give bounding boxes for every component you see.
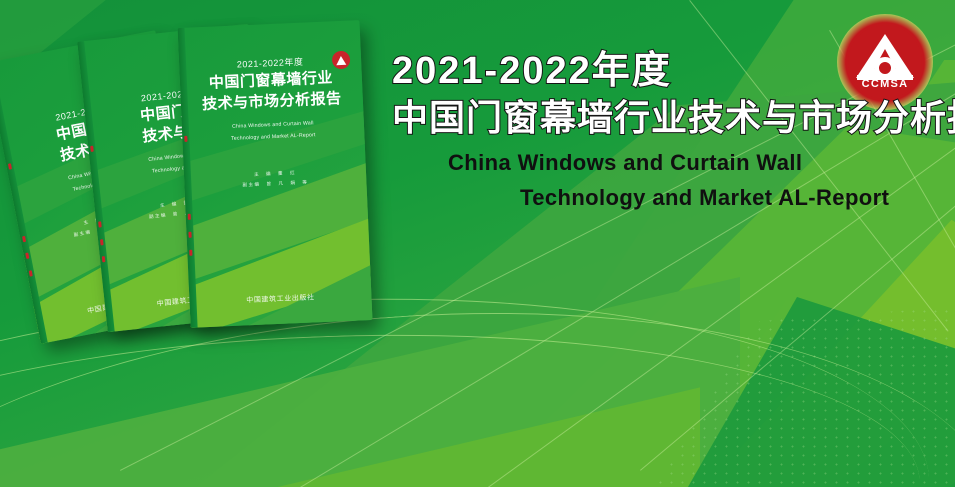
headline-title-en-line2: Technology and Market AL-Report [520,185,952,211]
headline-block: 2021-2022年度 中国门窗幕墙行业技术与市场分析报告 China Wind… [392,52,952,211]
report-cover-banner: 2021-2022年 中国门窗 技术与市 China Windows and C… [0,0,955,487]
headline-title-en-line1: China Windows and Curtain Wall [448,150,952,176]
headline-year: 2021-2022年度 [392,52,952,92]
book-stack: 2021-2022年 中国门窗 技术与市 China Windows and C… [8,18,398,348]
headline-title-cn: 中国门窗幕墙行业技术与市场分析报告 [392,98,952,138]
book-cover-front: 2021-2022年度 中国门窗幕墙行业 技术与市场分析报告 China Win… [178,20,373,328]
